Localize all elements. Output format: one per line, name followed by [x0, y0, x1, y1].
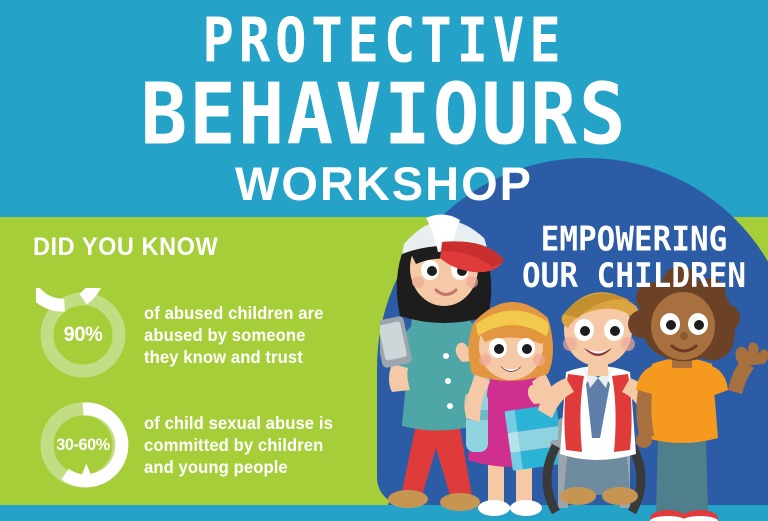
- tagline-line-2: OUR CHILDREN: [519, 258, 749, 294]
- tagline: EMPOWERING OUR CHILDREN: [519, 222, 749, 295]
- stat-text-30-60: of child sexual abuse is committed by ch…: [144, 412, 333, 478]
- donut-chart-30-60: 30-60%: [36, 398, 130, 492]
- title-line-behaviours: BEHAVIOURS: [0, 74, 768, 155]
- tagline-line-1: EMPOWERING: [519, 222, 749, 258]
- poster-headline: PROTECTIVE BEHAVIOURS WORKSHOP: [0, 12, 768, 207]
- stat-item-90: 90% of abused children are abused by som…: [36, 288, 333, 382]
- donut-value-90: 90%: [38, 288, 127, 382]
- character-boy-waving: [628, 266, 768, 521]
- donut-value-30-60: 30-60%: [38, 398, 127, 492]
- infographic-poster: PROTECTIVE BEHAVIOURS WORKSHOP DID YOU K…: [0, 0, 768, 521]
- did-you-know-heading: DID YOU KNOW: [33, 233, 218, 262]
- stat-item-30-60: 30-60% of child sexual abuse is committe…: [36, 398, 343, 492]
- donut-chart-90: 90%: [36, 288, 130, 382]
- title-line-workshop: WORKSHOP: [0, 160, 768, 207]
- stat-text-90: of abused children are abused by someone…: [144, 302, 323, 368]
- title-line-protective: PROTECTIVE: [0, 12, 768, 71]
